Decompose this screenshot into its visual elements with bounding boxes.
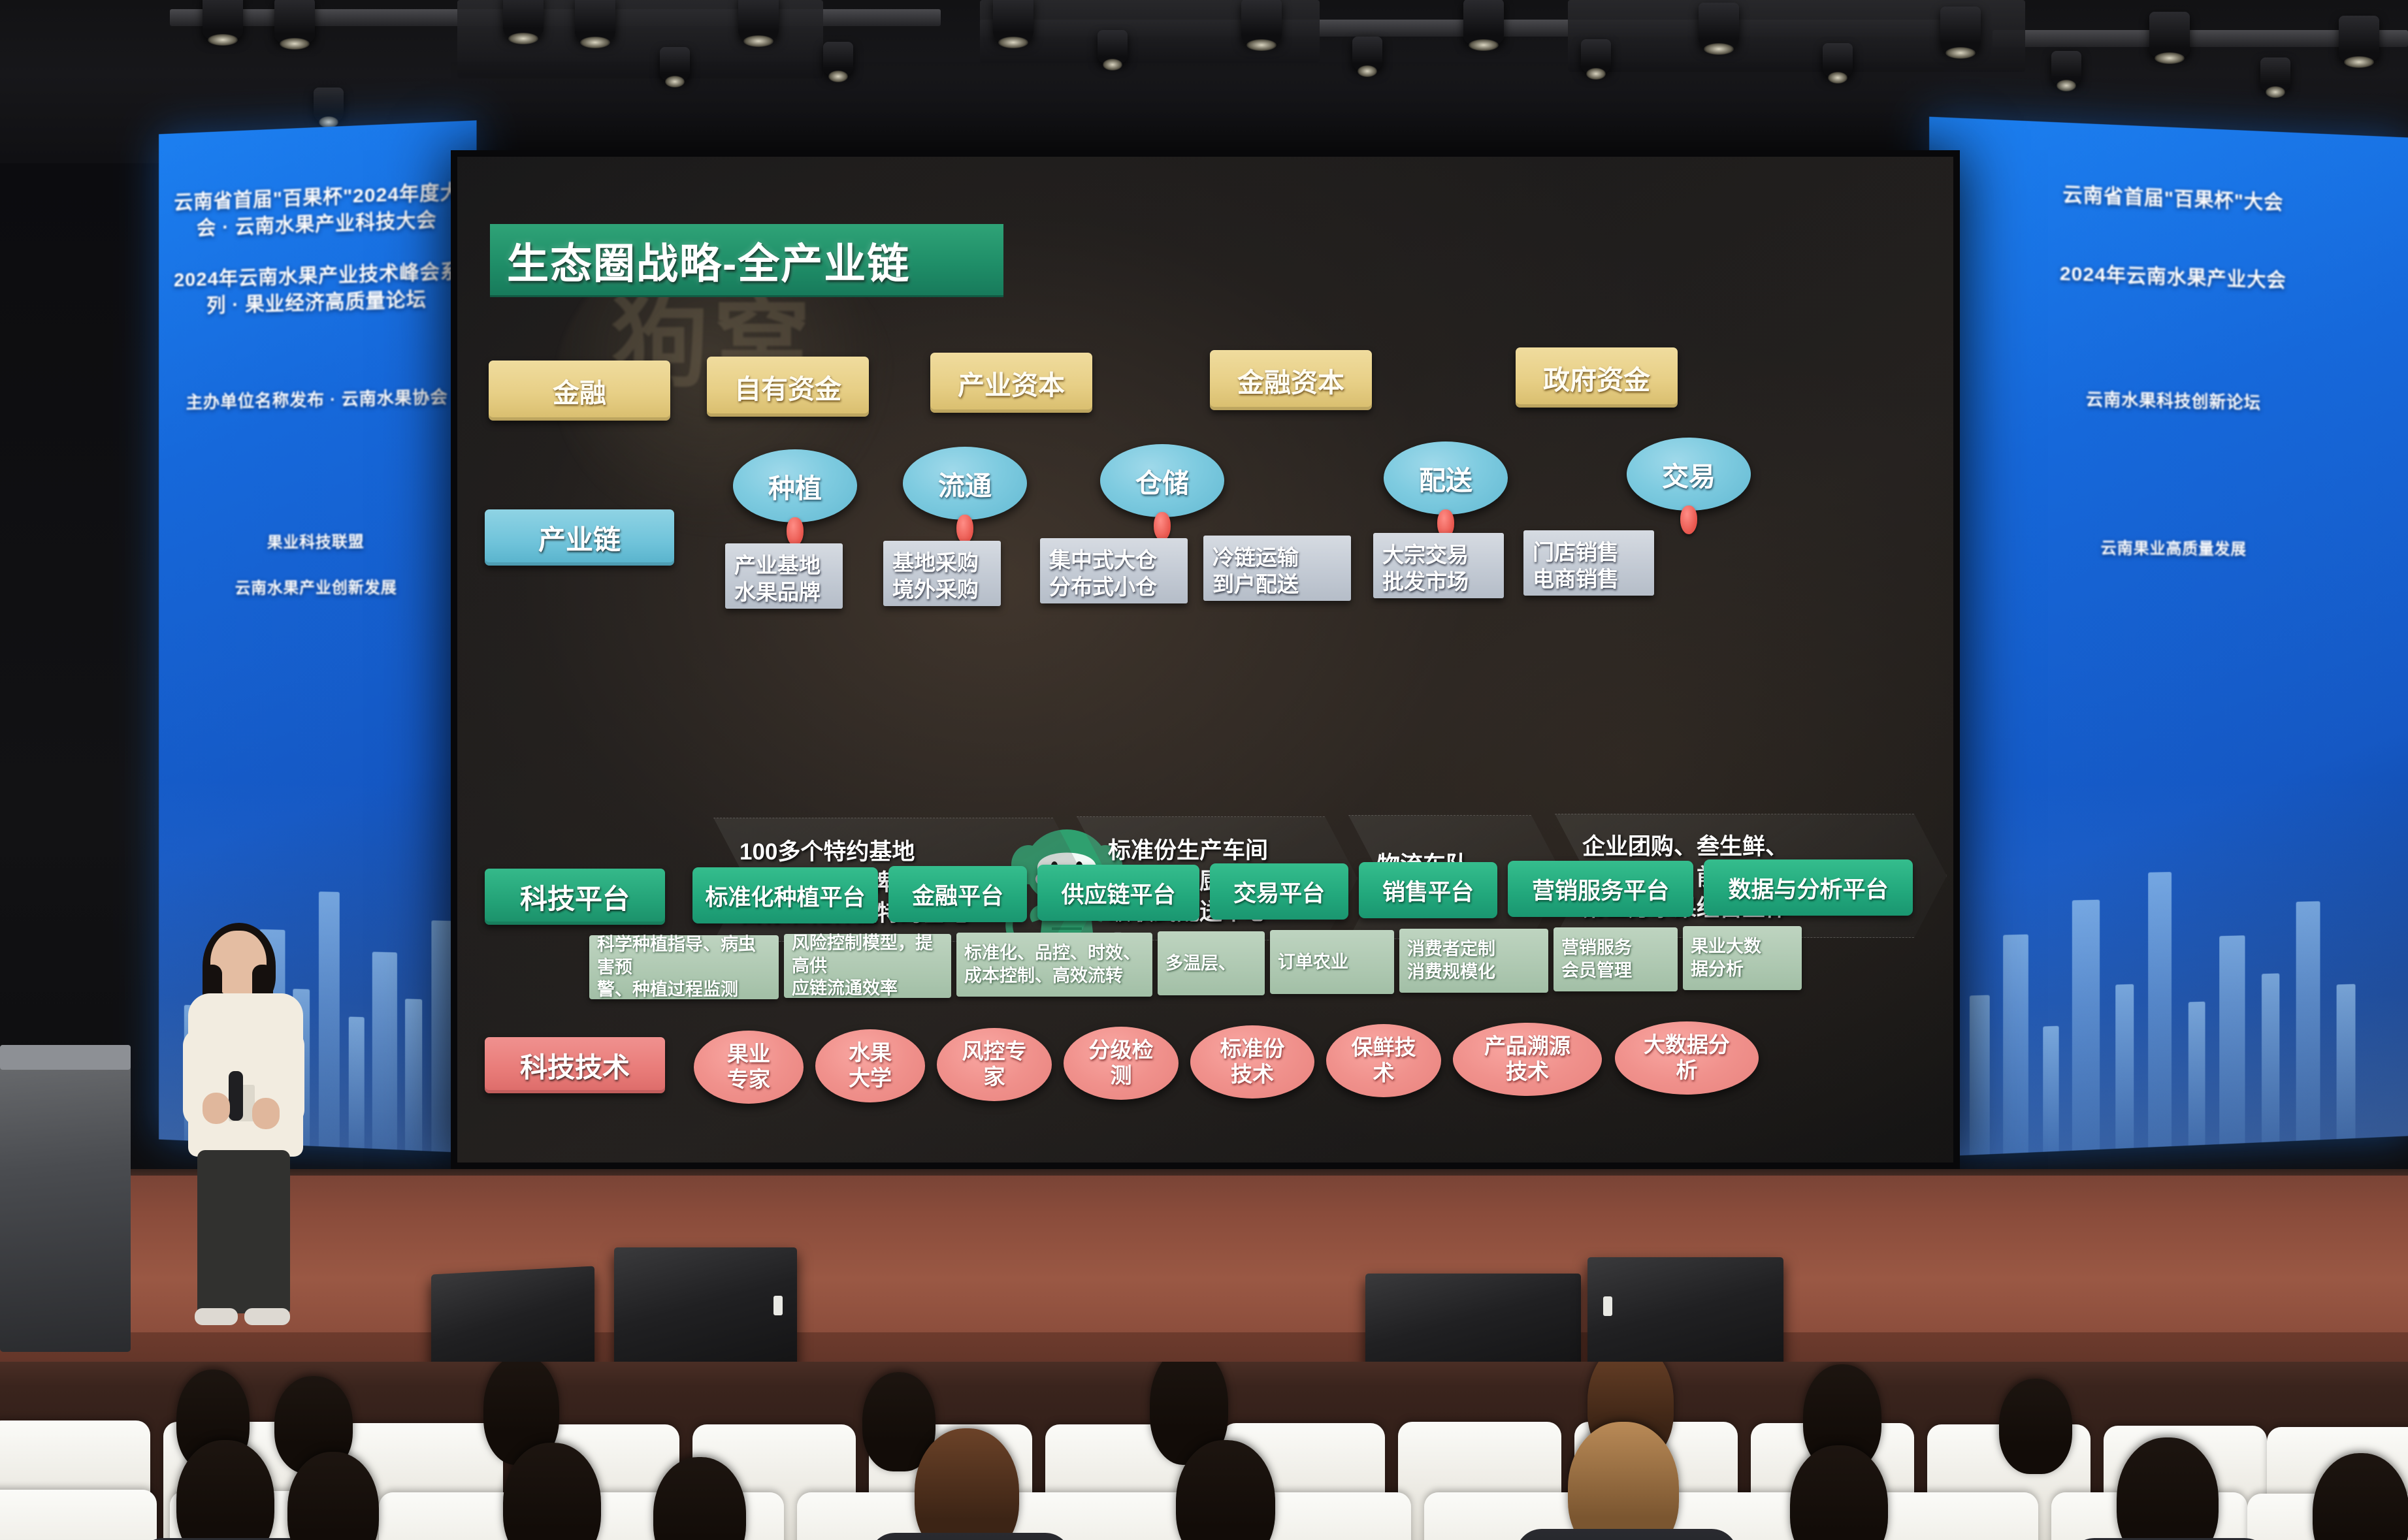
presentation-slide: 狗窝 生态圈战略-全产业链 金融 自有资金 产业资本 金融资本 政府资金 — [457, 157, 1953, 1163]
stage-light — [203, 0, 243, 39]
tech-item-7[interactable]: 大数据分 析 — [1615, 1021, 1759, 1095]
platform-desc-1: 风险控制模型，提高供 应链流通效率 — [784, 934, 951, 998]
platform-5[interactable]: 营销服务平台 — [1508, 861, 1693, 917]
chain-stage-4[interactable]: 交易 — [1627, 438, 1751, 511]
led-text-line2: 2024年云南水果产业大会 — [1944, 257, 2396, 298]
stage-light — [2339, 16, 2379, 61]
tech-item-3[interactable]: 分级检 测 — [1064, 1027, 1179, 1100]
stage-light — [1581, 39, 1611, 73]
platform-1[interactable]: 金融平台 — [888, 866, 1027, 922]
stage-light — [575, 0, 615, 42]
stage-light — [823, 42, 853, 76]
seat — [0, 1490, 157, 1540]
audience-head — [1999, 1379, 2072, 1474]
slide-title-banner: 生态圈战略-全产业链 — [490, 224, 1003, 297]
stage-light — [993, 0, 1033, 42]
tech-platform-label: 科技平台 — [485, 869, 665, 925]
chain-box-4[interactable]: 大宗交易 批发市场 — [1373, 533, 1504, 598]
stage-light — [2260, 57, 2290, 91]
connector-pin-icon — [1154, 512, 1171, 541]
chain-box-0[interactable]: 产业基地 水果品牌 — [725, 543, 843, 609]
chain-stage-2[interactable]: 仓储 — [1100, 444, 1224, 517]
presenter-shoe-left — [195, 1308, 238, 1325]
tech-item-5[interactable]: 保鲜技 术 — [1326, 1024, 1441, 1097]
chain-box-3[interactable]: 冷链运输 到户配送 — [1203, 536, 1351, 601]
platform-desc-4: 订单农业 — [1270, 930, 1394, 994]
presenter-hand-right — [252, 1098, 280, 1129]
audience-head — [915, 1428, 1019, 1540]
funding-box-4[interactable]: 政府资金 — [1516, 347, 1678, 408]
skyline-graphic — [1929, 778, 2408, 1157]
stage-light — [2149, 12, 2190, 57]
chain-stage-3[interactable]: 配送 — [1384, 441, 1508, 515]
chain-box-2[interactable]: 集中式大仓 分布式小仓 — [1040, 538, 1188, 603]
funding-box-3[interactable]: 金融资本 — [1210, 350, 1372, 410]
chain-box-1[interactable]: 基地采购 境外采购 — [883, 541, 1001, 606]
audience-head — [1568, 1422, 1679, 1540]
platform-desc-6: 营销服务 会员管理 — [1554, 927, 1678, 991]
connector-pin-icon — [956, 515, 973, 543]
chain-stage-0[interactable]: 种植 — [733, 449, 857, 522]
stage-light — [314, 88, 344, 121]
conference-hall-photo: 云南省首届"百果杯"2024年度大会 · 云南水果产业科技大会 2024年云南水… — [0, 0, 2408, 1540]
led-text-line4: 果业科技联盟 — [172, 531, 462, 554]
platform-6[interactable]: 数据与分析平台 — [1704, 859, 1913, 916]
audience-shoulders — [869, 1533, 1071, 1540]
platform-desc-0: 科学种植指导、病虫害预 警、种植过程监测 — [589, 935, 779, 999]
industry-chain-label: 产业链 — [485, 509, 674, 566]
stage-light — [1463, 0, 1504, 44]
tech-item-1[interactable]: 水果 大学 — [815, 1029, 925, 1102]
stage-light — [2051, 51, 2081, 85]
led-text-line4: 云南果业高质量发展 — [1944, 537, 2396, 562]
presenter-shoe-right — [244, 1308, 290, 1325]
funding-box-0[interactable]: 金融 — [489, 361, 670, 421]
stage-monitor-center — [614, 1247, 797, 1378]
led-text-line5: 云南水果产业创新发展 — [172, 577, 462, 600]
tech-item-4[interactable]: 标准份 技术 — [1190, 1025, 1314, 1099]
page-title: 生态圈战略-全产业链 — [507, 231, 910, 291]
funding-label: 自有资金 — [734, 367, 841, 406]
tech-item-2[interactable]: 风控专 家 — [937, 1028, 1052, 1101]
chain-box-5[interactable]: 门店销售 电商销售 — [1523, 530, 1654, 596]
funding-label: 产业资本 — [958, 363, 1065, 402]
platform-desc-5: 消费者定制 消费规模化 — [1399, 929, 1548, 993]
platform-0[interactable]: 标准化种植平台 — [692, 867, 878, 923]
tech-item-0[interactable]: 果业 专家 — [694, 1031, 804, 1104]
tech-item-6[interactable]: 产品溯源 技术 — [1453, 1023, 1602, 1096]
led-text-line1: 云南省首届"百果杯"大会 — [1944, 177, 2396, 220]
audience-area — [0, 1362, 2408, 1540]
platform-3[interactable]: 交易平台 — [1210, 863, 1348, 920]
presenter — [169, 931, 312, 1336]
funding-box-2[interactable]: 产业资本 — [930, 353, 1092, 413]
stage-light — [1352, 37, 1382, 71]
stage-light — [1241, 0, 1282, 44]
platform-2[interactable]: 供应链平台 — [1037, 865, 1199, 921]
funding-label: 政府资金 — [1543, 358, 1650, 397]
stage-light — [738, 0, 779, 40]
podium — [0, 1045, 131, 1352]
stage-light — [503, 0, 544, 38]
stage-light — [274, 0, 315, 43]
stage-light — [1098, 30, 1128, 64]
led-text-line3: 主办单位名称发布 · 云南水果协会 — [172, 385, 462, 414]
led-text-line1: 云南省首届"百果杯"2024年度大会 · 云南水果产业科技大会 — [172, 179, 462, 242]
funding-box-1[interactable]: 自有资金 — [707, 357, 869, 417]
connector-pin-icon — [1680, 505, 1697, 534]
stage-light — [1823, 43, 1853, 77]
stage-light — [1940, 7, 1981, 52]
platform-desc-2: 标准化、品控、时效、 成本控制、高效流转 — [956, 933, 1152, 997]
platform-desc-7: 果业大数 据分析 — [1683, 926, 1802, 990]
chain-stage-1[interactable]: 流通 — [903, 447, 1027, 520]
connector-pin-icon — [787, 517, 804, 546]
platform-desc-3: 多温层、 — [1158, 931, 1265, 995]
microphone-icon — [229, 1071, 243, 1121]
funding-label: 金融资本 — [1237, 361, 1344, 400]
main-led-screen: 狗窝 生态圈战略-全产业链 金融 自有资金 产业资本 金融资本 政府资金 — [451, 150, 1960, 1169]
stage-light — [660, 47, 690, 81]
led-text-line3: 云南水果科技创新论坛 — [1944, 385, 2396, 417]
stage-light — [1699, 3, 1739, 48]
tech-technology-label: 科技技术 — [485, 1037, 665, 1093]
audience-shoulders — [1516, 1529, 1738, 1540]
led-text-line2: 2024年云南水果产业技术峰会系列 · 果业经济高质量论坛 — [172, 259, 462, 320]
presenter-pants — [197, 1150, 290, 1313]
funding-label: 金融 — [553, 371, 606, 410]
side-led-screen-right: 云南省首届"百果杯"大会 2024年云南水果产业大会 云南水果科技创新论坛 云南… — [1929, 117, 2408, 1157]
platform-4[interactable]: 销售平台 — [1359, 862, 1497, 918]
presenter-hand-left — [203, 1093, 230, 1124]
